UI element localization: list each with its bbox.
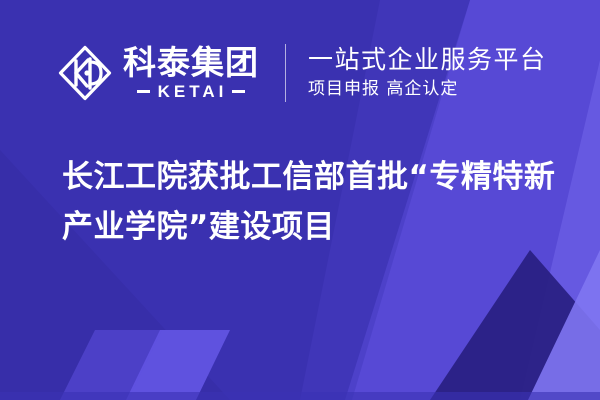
tagline-secondary: 项目申报 高企认定 <box>308 78 547 100</box>
bg-bottom-v-secondary <box>60 330 162 400</box>
ketai-diamond-monogram-icon <box>57 44 113 102</box>
brand-logo[interactable]: 科泰集团 KETAI <box>57 44 259 102</box>
page-title: 长江工院获批工信部首批“专精特新产业学院”建设项目 <box>62 152 567 252</box>
brand-wordmark: 科泰集团 KETAI <box>123 46 259 100</box>
banner-header: 科泰集团 KETAI 一站式企业服务平台 项目申报 高企认定 <box>0 36 600 110</box>
tagline-primary: 一站式企业服务平台 <box>308 45 547 74</box>
bg-pale-sliver <box>528 250 600 400</box>
promo-banner: 科泰集团 KETAI 一站式企业服务平台 项目申报 高企认定 长江工院获批工信部… <box>0 0 600 400</box>
brand-name-en-row: KETAI <box>123 83 259 100</box>
brand-name-cn: 科泰集团 <box>123 46 259 80</box>
brand-name-en: KETAI <box>150 83 233 100</box>
bg-bottom-strip <box>0 392 600 400</box>
bg-bottom-v <box>126 330 230 400</box>
bg-navy-triangle <box>430 250 600 400</box>
wordmark-dash-left <box>137 90 150 93</box>
header-divider <box>285 44 286 102</box>
wordmark-dash-right <box>232 90 245 93</box>
brand-tagline: 一站式企业服务平台 项目申报 高企认定 <box>308 45 547 100</box>
